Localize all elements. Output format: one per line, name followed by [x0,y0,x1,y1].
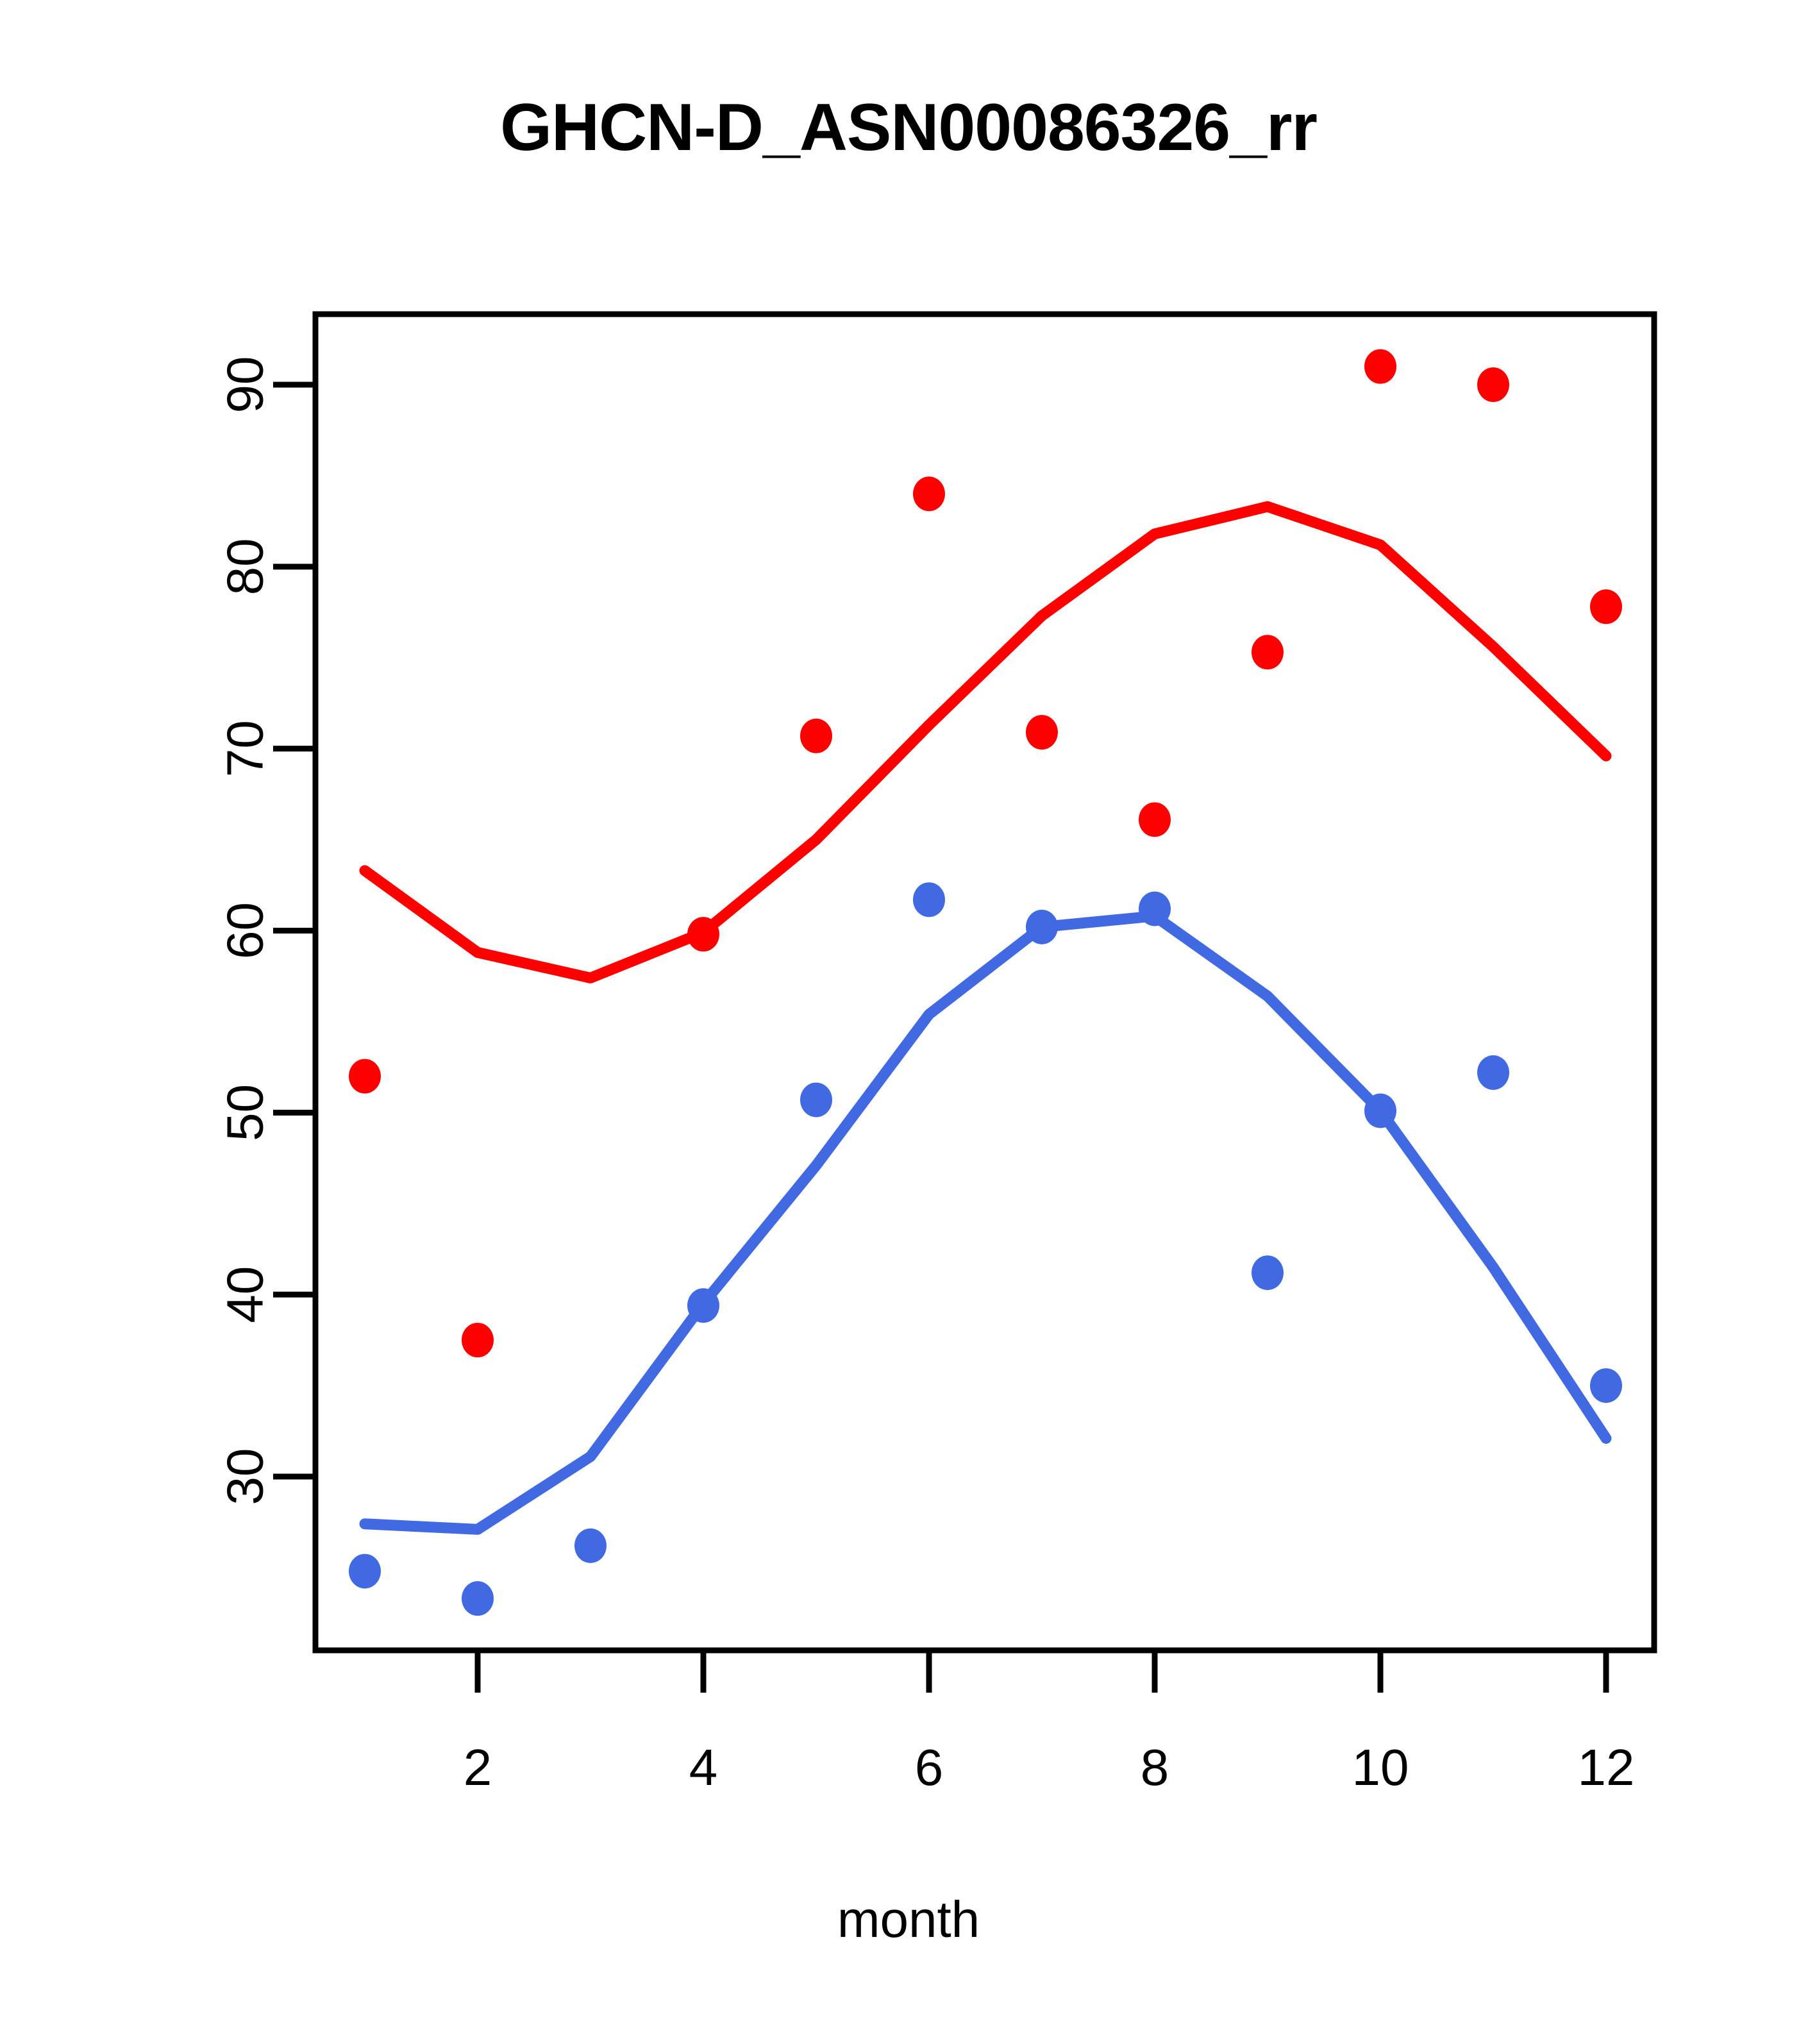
plot-canvas: 2468101230405060708090 [0,0,1817,2044]
y-axis-tick-label: 90 [217,356,274,414]
x-axis-tick-label: 2 [464,1739,492,1796]
y-axis-tick-label: 50 [217,1084,274,1141]
y-axis-tick-label: 60 [217,902,274,959]
data-point-lower [1590,1368,1622,1403]
data-point-upper [1026,715,1058,750]
data-point-lower [462,1581,494,1616]
data-point-upper [349,1059,381,1094]
data-point-lower [349,1554,381,1589]
x-axis-tick-label: 12 [1578,1739,1635,1796]
data-point-upper [800,719,832,753]
data-point-lower [1252,1255,1284,1290]
data-point-upper [687,917,719,951]
x-axis-tick-label: 8 [1141,1739,1169,1796]
y-axis-tick-label: 40 [217,1266,274,1323]
x-axis-tick-label: 6 [915,1739,944,1796]
y-axis-tick-label: 80 [217,538,274,595]
data-point-lower [1477,1055,1509,1090]
data-point-lower [1026,910,1058,944]
data-point-upper [462,1323,494,1357]
x-axis-tick-label: 4 [689,1739,718,1796]
chart-page: GHCN-D_ASN00086326_rr 246810123040506070… [0,0,1817,2044]
data-point-lower [1139,891,1171,926]
data-point-upper [913,476,945,511]
x-axis-label: month [0,1890,1817,1949]
data-point-lower [574,1529,607,1563]
data-point-upper [1590,589,1622,624]
plot-frame [315,314,1654,1650]
data-point-upper [1477,367,1509,402]
x-axis-tick-label: 10 [1352,1739,1409,1796]
data-point-lower [1364,1093,1396,1128]
data-point-upper [1252,635,1284,669]
data-point-lower [913,882,945,917]
data-point-lower [687,1288,719,1323]
data-point-upper [1364,349,1396,384]
series-line-upper [365,507,1606,978]
data-point-upper [1139,802,1171,837]
data-point-lower [800,1082,832,1117]
series-line-lower [365,916,1606,1530]
y-axis-tick-label: 30 [217,1448,274,1505]
y-axis-tick-label: 70 [217,720,274,777]
